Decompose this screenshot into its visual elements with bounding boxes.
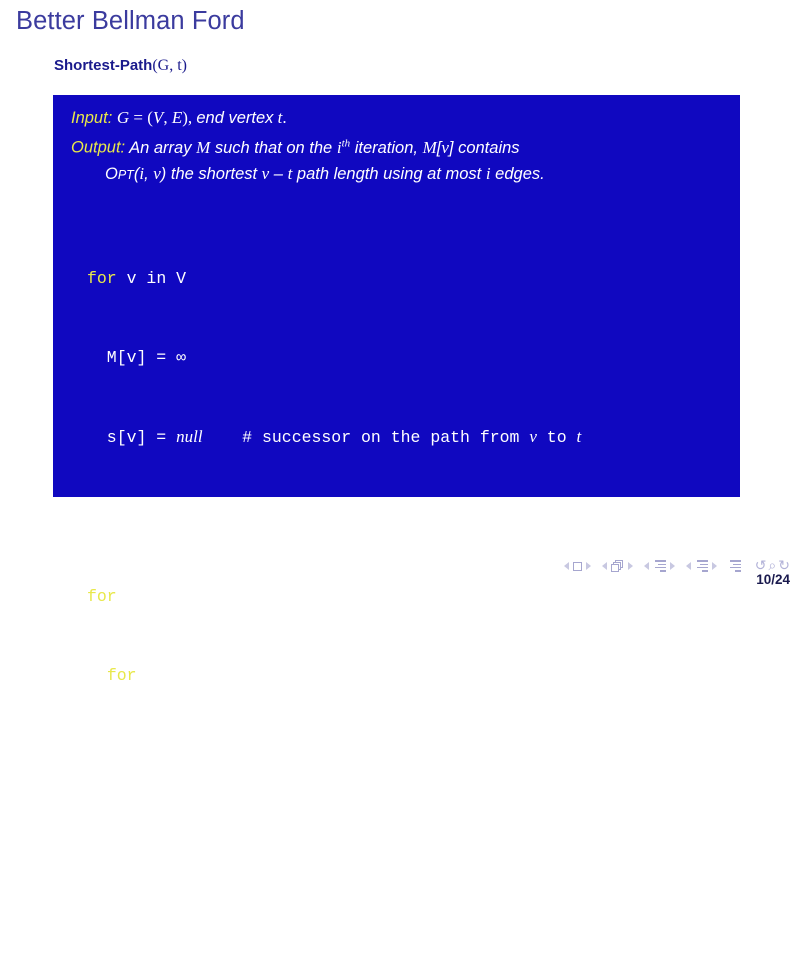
next-subsection-icon[interactable] bbox=[628, 562, 633, 570]
nav-group-document[interactable] bbox=[686, 560, 717, 571]
spec-output-label: Output: bbox=[71, 139, 125, 157]
algorithm-arguments: (G, t) bbox=[152, 57, 187, 74]
algorithm-heading: Shortest-Path(G, t) bbox=[54, 57, 187, 75]
spec-output-text: An array M such that on the ith iteratio… bbox=[129, 139, 519, 157]
nav-group-outline[interactable] bbox=[728, 560, 741, 571]
code-line-for-v-in-v: for v in V bbox=[87, 266, 581, 292]
frame-nav-icon[interactable] bbox=[573, 562, 582, 571]
code-line-init-successor: s[v] = null # successor on the path from… bbox=[87, 424, 581, 451]
prev-document-icon[interactable] bbox=[686, 562, 691, 570]
spec-output-line-2: OPT(i, v) the shortest v – t path length… bbox=[71, 161, 545, 188]
slide-stack-nav-icon[interactable] bbox=[611, 560, 624, 572]
keyword-for: for bbox=[87, 587, 117, 606]
opt-label-rest: PT bbox=[118, 168, 134, 182]
algorithm-spec: Input: G = (V, E), end vertex t. Output:… bbox=[71, 105, 545, 188]
back-arrow-icon[interactable]: ↺ bbox=[755, 559, 767, 573]
spec-input-line: Input: G = (V, E), end vertex t. bbox=[71, 105, 545, 131]
nav-group-section[interactable] bbox=[644, 560, 675, 571]
nav-history-controls[interactable]: ↺ ⌕ ↻ bbox=[755, 559, 790, 573]
next-frame-icon[interactable] bbox=[586, 562, 591, 570]
spec-output-superscript: th bbox=[342, 137, 351, 149]
spec-output-line: Output: An array M such that on the ith … bbox=[71, 131, 545, 161]
spec-input-text: G = (V, E), end vertex t. bbox=[117, 108, 287, 127]
code-line-if-relax: if M[v] > M[u]+e(v,u): bbox=[87, 742, 581, 768]
code-line-update-distance: M[v] = M[u] + e(v, u) bbox=[87, 821, 581, 847]
spec-output-detail: (i, v) the shortest v – t path length us… bbox=[134, 165, 545, 183]
pseudocode-panel: Input: G = (V, E), end vertex t. Output:… bbox=[53, 95, 740, 497]
var-v: v bbox=[529, 427, 537, 446]
pseudocode-body: for v in V M[v] = ∞ s[v] = null # succes… bbox=[87, 213, 581, 980]
algorithm-name: Shortest-Path bbox=[54, 57, 152, 74]
prev-subsection-icon[interactable] bbox=[602, 562, 607, 570]
section-lines-nav-icon[interactable] bbox=[653, 560, 666, 571]
prev-frame-icon[interactable] bbox=[564, 562, 569, 570]
page-number: 10/24 bbox=[756, 572, 790, 587]
keyword-for: for bbox=[107, 666, 137, 685]
code-line-set-target-zero: M[t] = 0 bbox=[87, 504, 581, 530]
search-icon[interactable]: ⌕ bbox=[768, 559, 776, 573]
nav-group-frame[interactable] bbox=[564, 562, 591, 571]
code-line-init-infinity: M[v] = ∞ bbox=[87, 345, 581, 371]
forward-arrow-icon[interactable]: ↻ bbox=[778, 559, 790, 573]
code-line-for-edge: for (v, u) in E bbox=[87, 663, 581, 689]
outline-lines-icon[interactable] bbox=[728, 560, 741, 571]
nav-group-subsection[interactable] bbox=[602, 560, 633, 572]
page-title: Better Bellman Ford bbox=[16, 7, 245, 36]
code-line-update-successor: s[v] = u bbox=[87, 901, 581, 927]
var-t: t bbox=[577, 427, 582, 446]
next-document-icon[interactable] bbox=[712, 562, 717, 570]
beamer-navigation-bar[interactable]: ↺ ⌕ ↻ bbox=[505, 556, 790, 576]
document-lines-nav-icon[interactable] bbox=[695, 560, 708, 571]
opt-label-first: O bbox=[105, 165, 118, 183]
keyword-for: for bbox=[87, 269, 117, 288]
spec-input-label: Input: bbox=[71, 109, 112, 127]
literal-null: null bbox=[176, 427, 202, 446]
next-section-icon[interactable] bbox=[670, 562, 675, 570]
prev-section-icon[interactable] bbox=[644, 562, 649, 570]
